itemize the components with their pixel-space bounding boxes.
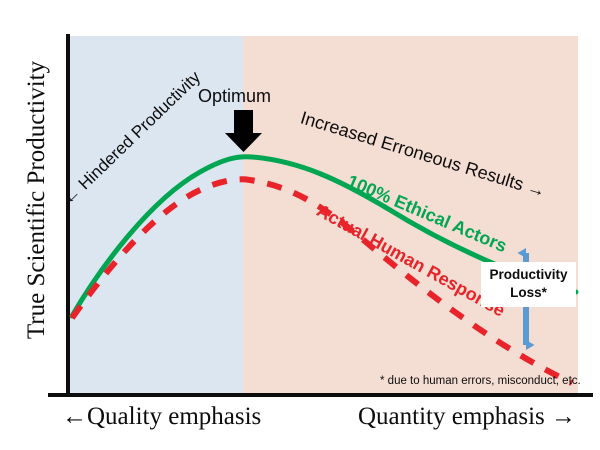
chart-figure: True Scientific Productivity ←Quality em… (0, 0, 600, 450)
annotation-optimum: Optimum (198, 86, 271, 107)
x-axis-line (48, 393, 593, 397)
y-axis-title: True Scientific Productivity (23, 35, 51, 365)
productivity-loss-callout: Productivity Loss* (481, 262, 576, 307)
productivity-loss-line-1: Productivity (484, 266, 573, 284)
footnote-text: * due to human errors, misconduct, etc. (380, 375, 581, 387)
y-axis-line (66, 34, 70, 395)
productivity-loss-line-2: Loss* (484, 284, 573, 302)
x-axis-title-quality: ←Quality emphasis (62, 403, 261, 431)
x-axis-title-quantity: Quantity emphasis → (358, 403, 576, 431)
